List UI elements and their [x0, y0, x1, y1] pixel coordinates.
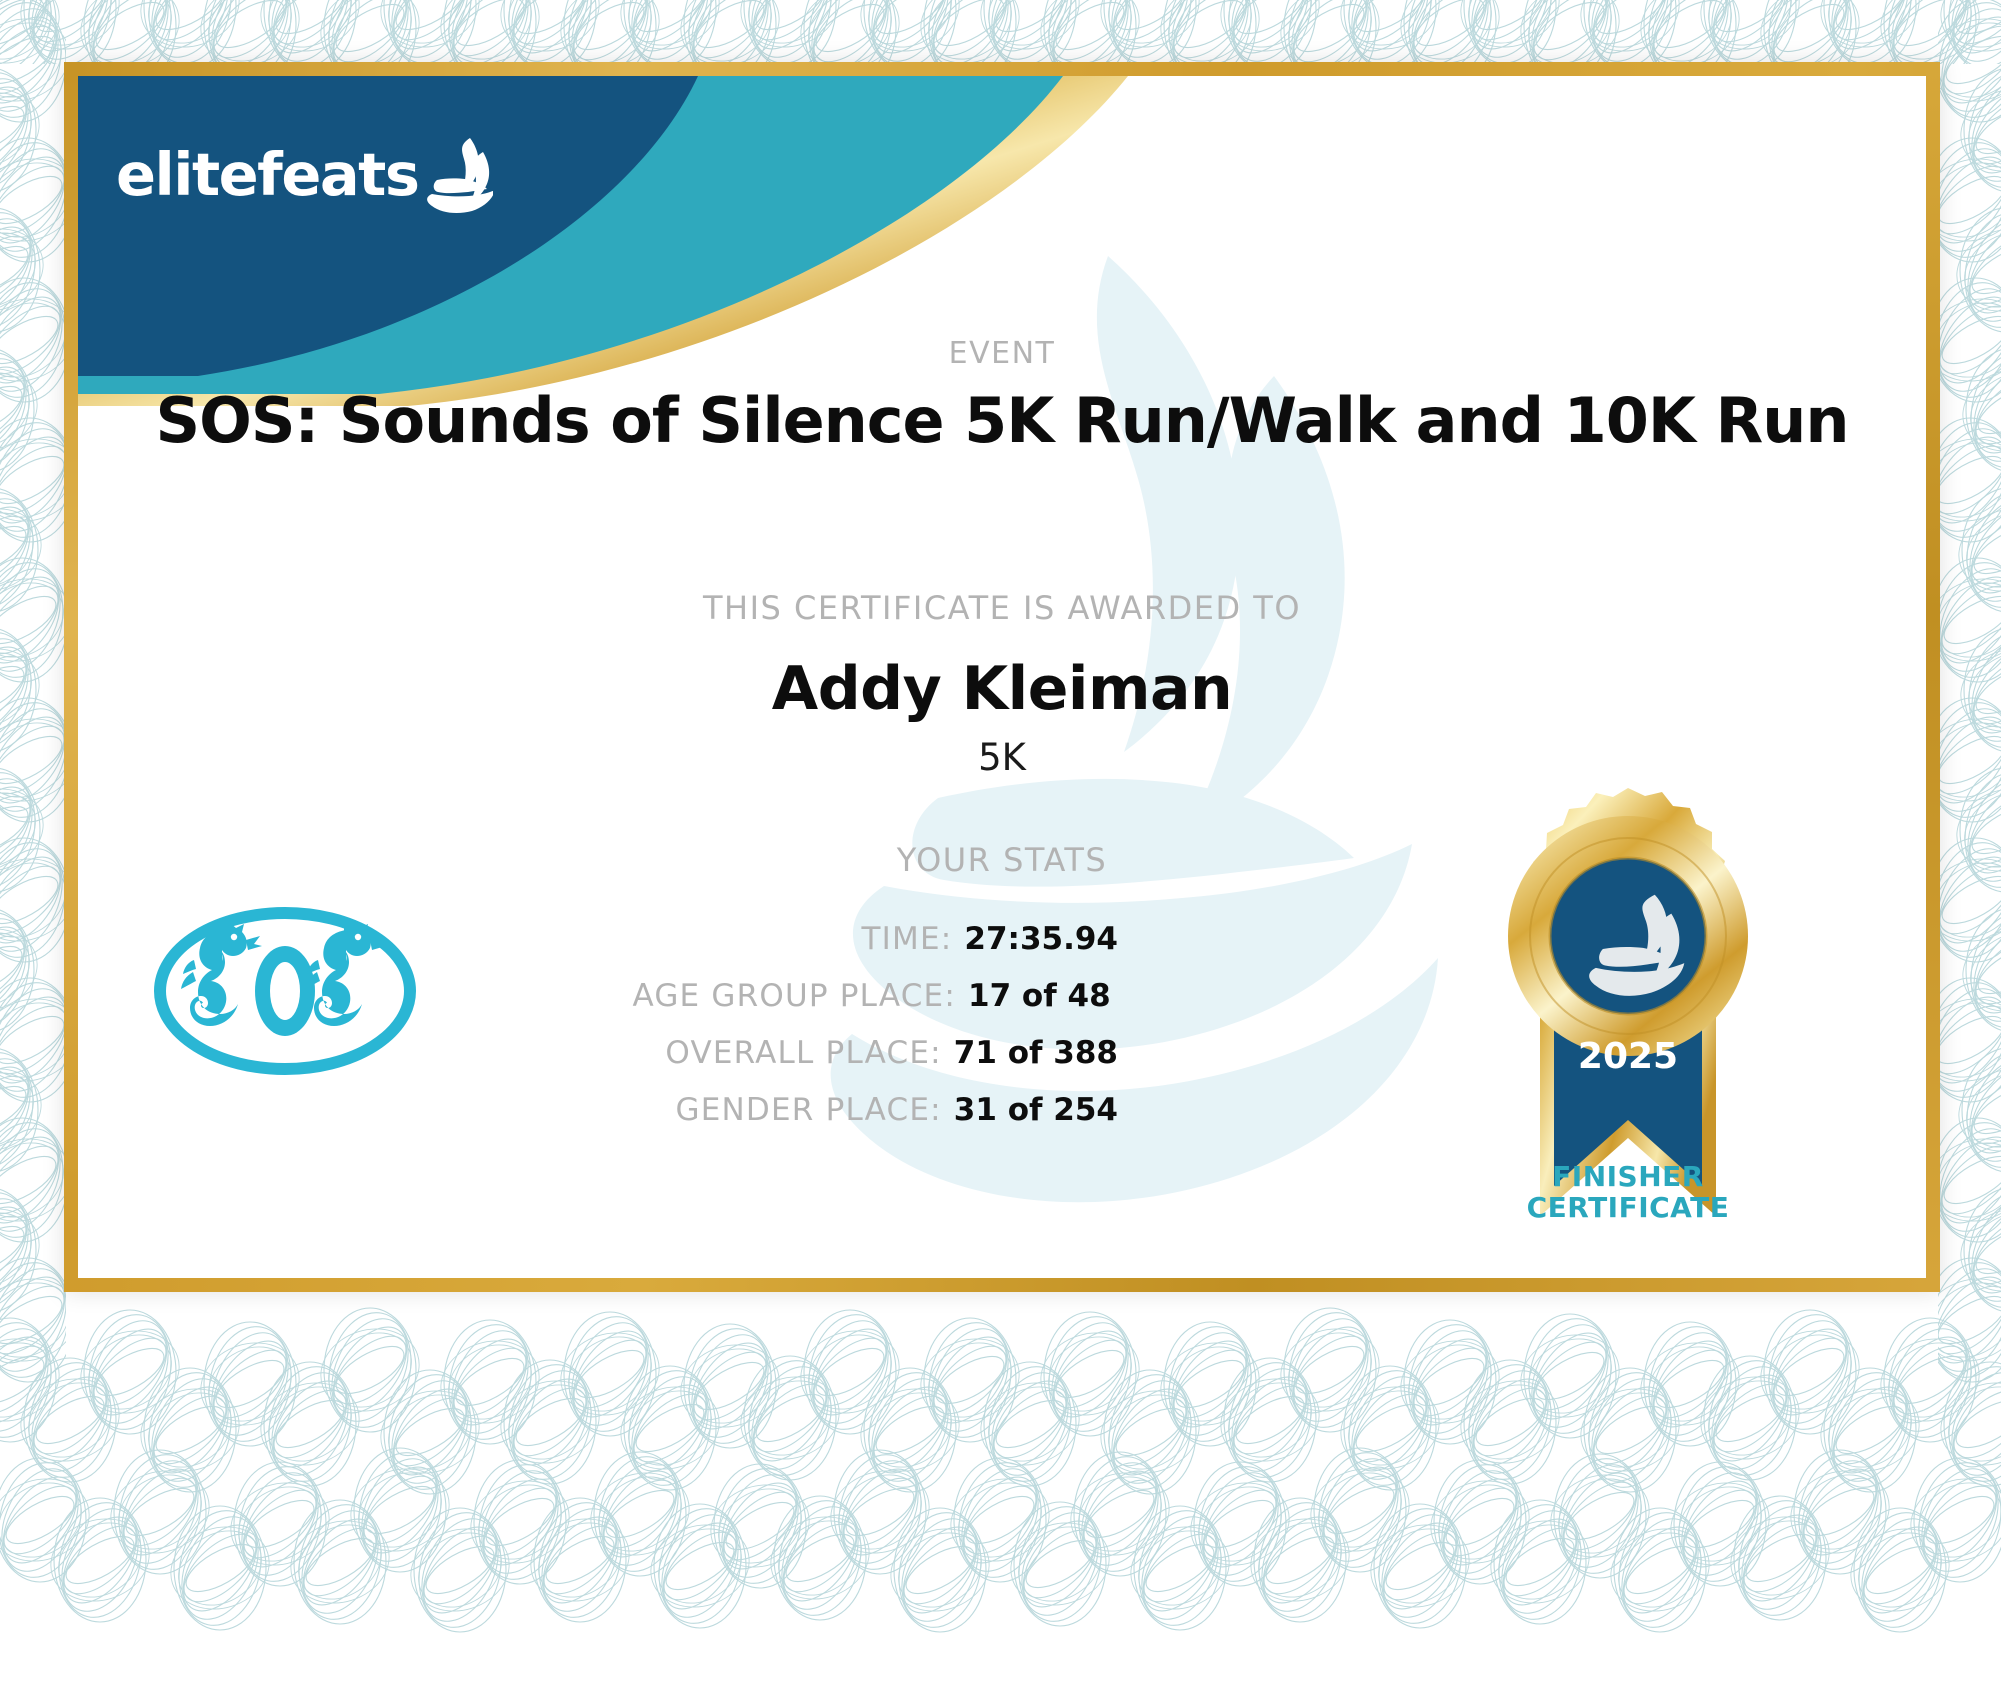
medal-year-text: 2025	[1578, 1036, 1678, 1077]
medal-caption: FINISHER CERTIFICATE	[1458, 1161, 1798, 1224]
stat-key-time: TIME:	[862, 921, 953, 957]
awarded-to-label: THIS CERTIFICATE IS AWARDED TO	[78, 589, 1926, 627]
stat-key-age-group-place: AGE GROUP PLACE:	[632, 978, 956, 1014]
certificate-inner-canvas: elitefeats EVENT SOS: Sounds of Silence …	[78, 76, 1926, 1278]
stat-value-gender-place: 31 of 254	[954, 1092, 1118, 1128]
stat-value-age-group-place: 17 of 48	[968, 978, 1118, 1014]
stat-key-gender-place: GENDER PLACE:	[676, 1092, 942, 1128]
event-title: SOS: Sounds of Silence 5K Run/Walk and 1…	[78, 384, 1926, 457]
recipient-name: Addy Kleiman	[78, 654, 1926, 724]
stat-value-overall-place: 71 of 388	[954, 1035, 1118, 1071]
stat-key-overall-place: OVERALL PLACE:	[665, 1035, 941, 1071]
recipient-distance: 5K	[78, 736, 1926, 779]
medal-caption-line1: FINISHER	[1458, 1161, 1798, 1192]
event-label: EVENT	[78, 336, 1926, 371]
certificate-page: elitefeats EVENT SOS: Sounds of Silence …	[0, 0, 2001, 1700]
stat-row: GENDER PLACE: 31 of 254	[78, 1092, 1118, 1149]
stat-value-time: 27:35.94	[964, 921, 1118, 957]
sos-seahorse-oval-logo-icon	[150, 896, 420, 1086]
medal-caption-line2: CERTIFICATE	[1458, 1192, 1798, 1223]
